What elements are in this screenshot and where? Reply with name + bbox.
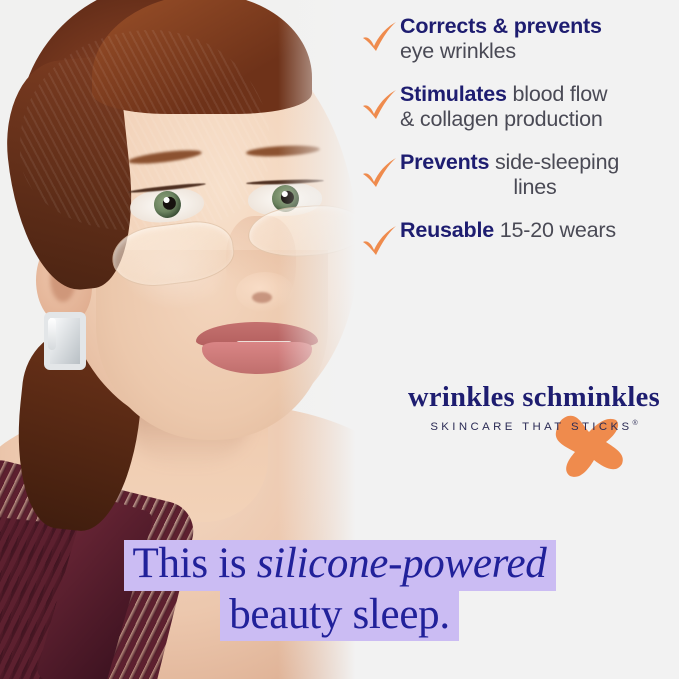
orange-check-icon	[358, 16, 400, 58]
benefit-text: Reusable 15-20 wears	[400, 216, 670, 243]
banner-plain-text: This is	[133, 540, 257, 587]
benefit-bold: Reusable	[400, 218, 494, 242]
benefit-text: Corrects & prevents eye wrinkles	[400, 12, 670, 64]
registered-mark: ®	[633, 420, 638, 427]
orange-check-icon	[358, 152, 400, 194]
benefit-second-line: eye wrinkles	[400, 39, 670, 64]
banner-line-1-highlight: This is silicone-powered	[124, 540, 556, 591]
earring-sheen	[48, 318, 56, 350]
benefit-item: Stimulates blood flow & collagen product…	[358, 80, 670, 132]
banner-line-1: This is silicone-powered	[0, 540, 679, 591]
benefit-rest: side-sleeping	[489, 150, 619, 174]
banner-headline: This is silicone-powered beauty sleep.	[0, 540, 679, 641]
logo-tagline-text: SKINCARE THAT STICKS	[430, 421, 632, 433]
benefit-bold: Prevents	[400, 150, 489, 174]
banner-italic-text: silicone-powered	[257, 540, 547, 587]
product-marketing-image: Corrects & prevents eye wrinkles Stimula…	[0, 0, 679, 679]
benefit-rest: blood flow	[507, 82, 608, 106]
benefit-second-line: & collagen production	[400, 107, 670, 132]
benefit-item: Corrects & prevents eye wrinkles	[358, 12, 670, 64]
benefit-item: Reusable 15-20 wears	[358, 216, 670, 262]
orange-check-icon	[358, 84, 400, 126]
nostril	[252, 292, 272, 303]
orange-check-icon	[358, 220, 400, 262]
benefit-bold: Stimulates	[400, 82, 507, 106]
logo-tagline: SKINCARE THAT STICKS®	[398, 420, 670, 433]
benefit-item: Prevents side-sleeping lines	[358, 148, 670, 200]
brand-logo: wrinkles schminkles SKINCARE THAT STICKS…	[398, 382, 670, 482]
banner-line-2: beauty sleep.	[0, 591, 679, 642]
logo-wordmark: wrinkles schminkles	[398, 382, 670, 414]
benefit-bold: Corrects & prevents	[400, 14, 602, 38]
banner-line-2-highlight: beauty sleep.	[220, 591, 459, 642]
benefit-second-line: lines	[400, 175, 670, 200]
benefit-text: Prevents side-sleeping lines	[400, 148, 670, 200]
benefit-rest: 15-20 wears	[494, 218, 616, 242]
benefit-text: Stimulates blood flow & collagen product…	[400, 80, 670, 132]
benefits-list: Corrects & prevents eye wrinkles Stimula…	[358, 12, 670, 278]
